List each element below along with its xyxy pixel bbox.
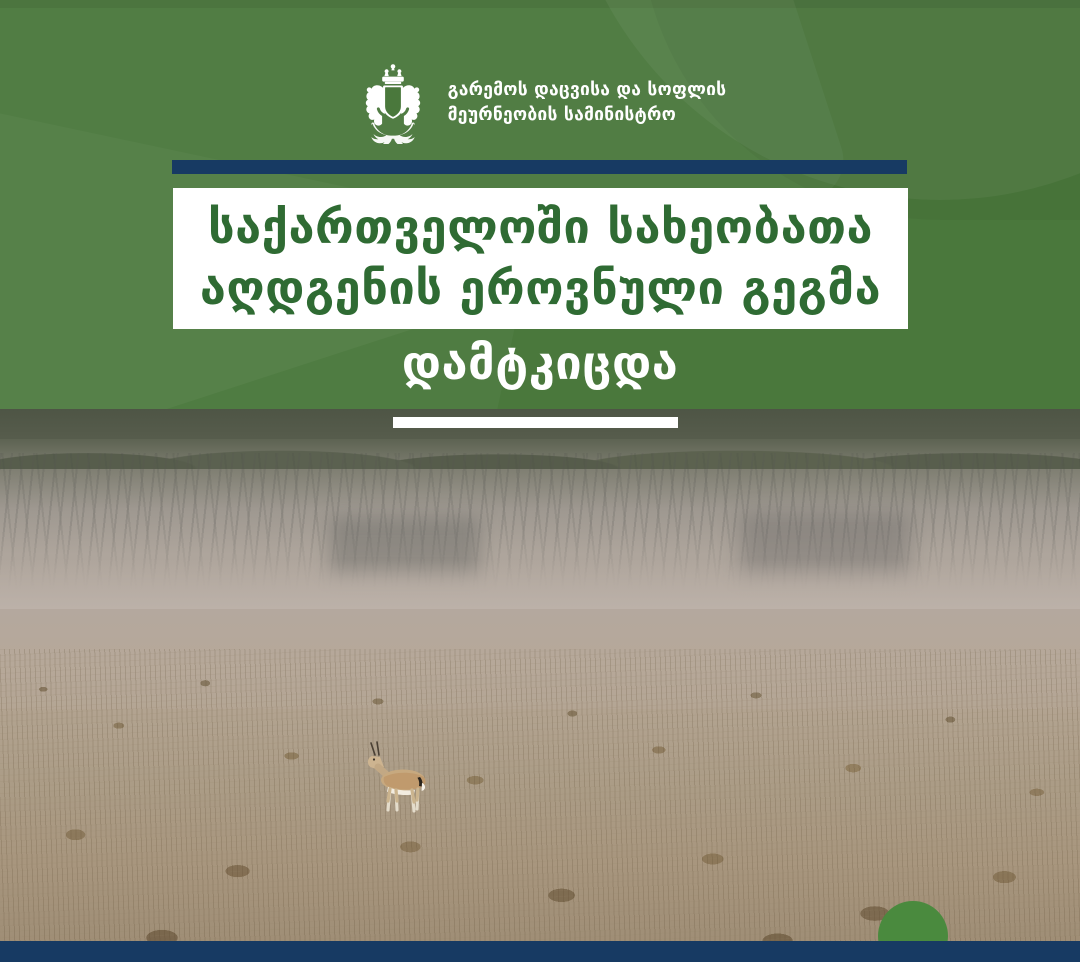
- landscape-photo: [0, 409, 1080, 962]
- title-accent-rule: [172, 160, 907, 174]
- poster-root: გარემოს დაცვისა და სოფლის მეურნეობის სამ…: [0, 0, 1080, 962]
- bottom-navy-bar: [0, 941, 1080, 962]
- title-line-3: დამტკიცდა: [0, 336, 1080, 392]
- gazelle-icon-far: [348, 739, 444, 819]
- title-line-1: საქართველოში სახეობათა: [208, 198, 873, 258]
- ministry-name-text: გარემოს დაცვისა და სოფლის მეურნეობის სამ…: [448, 78, 727, 128]
- title-line-2: აღდგენის ეროვნული გეგმა: [200, 259, 881, 319]
- georgia-coat-of-arms-icon: [354, 62, 432, 144]
- ministry-lockup: გარემოს დაცვისა და სოფლის მეურნეობის სამ…: [0, 62, 1080, 144]
- title-underline: [393, 417, 678, 428]
- title-card: საქართველოში სახეობათა აღდგენის ეროვნული…: [173, 188, 908, 329]
